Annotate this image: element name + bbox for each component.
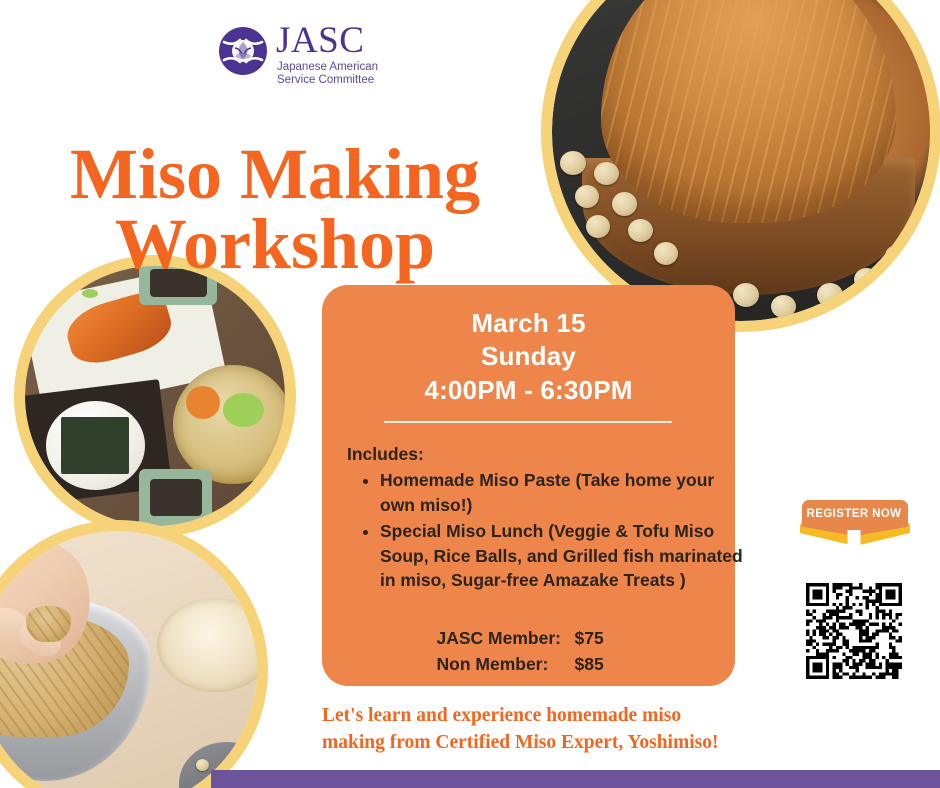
tagline: Let's learn and experience homemade miso… bbox=[322, 703, 822, 757]
price-row: Non Member:$85 bbox=[322, 651, 735, 677]
event-datetime: March 15 Sunday 4:00PM - 6:30PM bbox=[322, 307, 735, 407]
includes-list: Homemade Miso Paste (Take home your own … bbox=[354, 468, 752, 594]
bento-ring bbox=[14, 255, 296, 537]
flyer-canvas: JASC Japanese American Service Committee… bbox=[0, 0, 940, 788]
bottom-accent-bar bbox=[211, 770, 940, 788]
event-info-card: March 15 Sunday 4:00PM - 6:30PM Includes… bbox=[322, 285, 735, 686]
register-now-badge[interactable]: REGISTER NOW bbox=[800, 500, 910, 574]
event-date: March 15 bbox=[322, 307, 735, 340]
jasc-subtitle-line2: Service Committee bbox=[277, 73, 374, 87]
price-value: $85 bbox=[575, 651, 621, 677]
price-value: $75 bbox=[575, 625, 621, 651]
list-item: Homemade Miso Paste (Take home your own … bbox=[380, 468, 752, 518]
price-label: JASC Member: bbox=[437, 625, 575, 651]
price-row: JASC Member:$75 bbox=[322, 625, 735, 651]
page-title: Miso Making Workshop bbox=[40, 140, 510, 280]
jasc-logo: JASC Japanese American Service Committee bbox=[218, 24, 388, 84]
event-day: Sunday bbox=[322, 340, 735, 373]
tagline-line-2: making from Certified Miso Expert, Yoshi… bbox=[322, 730, 822, 757]
register-now-label: REGISTER NOW bbox=[800, 508, 908, 520]
event-time: 4:00PM - 6:30PM bbox=[322, 374, 735, 407]
list-item: Special Miso Lunch (Veggie & Tofu Miso S… bbox=[380, 519, 752, 594]
qr-canvas bbox=[806, 583, 902, 679]
title-line-2: Workshop bbox=[40, 210, 510, 280]
tagline-line-1: Let's learn and experience homemade miso bbox=[322, 703, 822, 730]
includes-label: Includes: bbox=[347, 444, 424, 465]
jasc-subtitle-line1: Japanese American bbox=[277, 60, 378, 74]
title-line-1: Miso Making bbox=[40, 140, 510, 210]
card-divider bbox=[384, 421, 672, 423]
price-label: Non Member: bbox=[437, 651, 575, 677]
down-arrow-icon bbox=[836, 530, 872, 574]
price-block: JASC Member:$75 Non Member:$85 bbox=[322, 625, 735, 678]
jasc-lotus-globe-icon bbox=[218, 26, 268, 76]
jasc-wordmark: JASC bbox=[276, 22, 364, 59]
qr-code-icon[interactable] bbox=[806, 583, 902, 679]
